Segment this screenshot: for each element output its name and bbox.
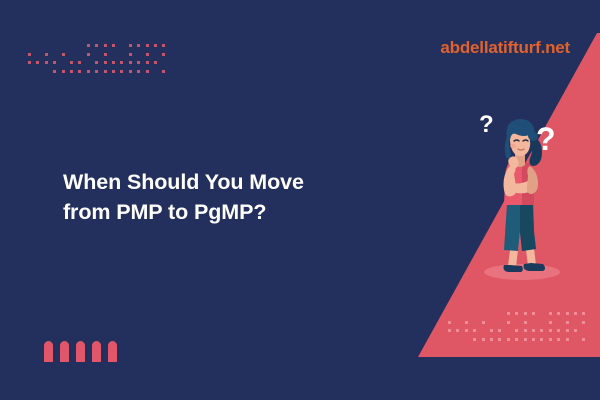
decorative-dot: [146, 70, 149, 73]
decorative-dot: [129, 44, 132, 47]
decorative-dot: [95, 44, 98, 47]
decorative-dot: [62, 53, 65, 56]
decorative-dot: [473, 329, 476, 332]
decorative-dot: [129, 61, 132, 64]
decorative-dot: [78, 61, 81, 64]
cheek: [510, 144, 516, 148]
decorative-dot: [549, 329, 552, 332]
decorative-dot: [549, 312, 552, 315]
decorative-dot: [137, 44, 140, 47]
decorative-dot: [87, 53, 90, 56]
page-title: When Should You Move from PMP to PgMP?: [63, 168, 363, 227]
decorative-dot: [112, 70, 115, 73]
decorative-dot: [104, 61, 107, 64]
decorative-dot: [515, 312, 518, 315]
decorative-dot: [566, 321, 569, 324]
decorative-dot: [507, 321, 510, 324]
decorative-dot: [465, 329, 468, 332]
decorative-dot: [490, 338, 493, 341]
decorative-dot: [515, 329, 518, 332]
decorative-dot: [154, 61, 157, 64]
decorative-dot: [540, 338, 543, 341]
decorative-dot: [448, 329, 451, 332]
decorative-dot: [566, 338, 569, 341]
decorative-dot: [524, 321, 527, 324]
decorative-dot-grid-top-left: [28, 44, 168, 78]
decorative-dot: [120, 61, 123, 64]
decorative-dot: [70, 70, 73, 73]
decorative-dot: [146, 53, 149, 56]
decorative-dot-grid-bottom-right: [448, 312, 588, 346]
decorative-dot: [574, 329, 577, 332]
decorative-arch-bar: [92, 341, 101, 362]
decorative-dot: [557, 312, 560, 315]
pants-shading: [520, 204, 536, 251]
decorative-dot: [482, 338, 485, 341]
decorative-dot: [53, 70, 56, 73]
decorative-arch-bar: [108, 341, 117, 362]
decorative-dot: [498, 338, 501, 341]
decorative-dot: [78, 70, 81, 73]
decorative-dot: [582, 338, 585, 341]
decorative-dot: [62, 70, 65, 73]
decorative-dot: [45, 61, 48, 64]
blog-banner: abdellatifturf.net When Should You Move …: [0, 0, 600, 400]
decorative-dot: [507, 312, 510, 315]
decorative-dot: [87, 70, 90, 73]
decorative-dot: [515, 338, 518, 341]
decorative-dot: [129, 70, 132, 73]
decorative-arch-bar: [44, 341, 53, 362]
decorative-dot: [162, 70, 165, 73]
decorative-dot: [137, 70, 140, 73]
decorative-dot: [53, 61, 56, 64]
decorative-dot: [557, 329, 560, 332]
decorative-dot: [532, 312, 535, 315]
decorative-dot: [104, 53, 107, 56]
decorative-dot: [456, 329, 459, 332]
decorative-dot: [574, 312, 577, 315]
decorative-dot: [162, 44, 165, 47]
decorative-dot: [507, 338, 510, 341]
decorative-dot: [146, 61, 149, 64]
decorative-dot: [532, 338, 535, 341]
decorative-arch-bar: [76, 341, 85, 362]
decorative-dot: [566, 329, 569, 332]
page-title-line-1: When Should You Move: [63, 168, 363, 198]
decorative-dot: [465, 321, 468, 324]
decorative-dot: [582, 321, 585, 324]
decorative-dot: [473, 338, 476, 341]
decorative-dot: [70, 61, 73, 64]
decorative-dot: [490, 329, 493, 332]
shoe-back: [504, 265, 523, 272]
page-title-line-2: from PMP to PgMP?: [63, 198, 363, 228]
decorative-dot: [582, 312, 585, 315]
thinking-woman-illustration: ? ?: [460, 108, 590, 288]
decorative-arch-bars: [44, 341, 117, 362]
decorative-dot: [28, 53, 31, 56]
decorative-dot: [28, 61, 31, 64]
decorative-arch-bar: [60, 341, 69, 362]
decorative-dot: [146, 44, 149, 47]
decorative-dot: [540, 329, 543, 332]
decorative-dot: [524, 338, 527, 341]
decorative-dot: [557, 338, 560, 341]
decorative-dot: [129, 53, 132, 56]
decorative-dot: [154, 44, 157, 47]
question-mark-small: ?: [479, 111, 494, 138]
decorative-dot: [137, 61, 140, 64]
decorative-dot: [549, 338, 552, 341]
decorative-dot: [120, 70, 123, 73]
question-mark-large: ?: [536, 121, 556, 157]
decorative-dot: [95, 61, 98, 64]
decorative-dot: [524, 312, 527, 315]
decorative-dot: [95, 70, 98, 73]
arm-right: [527, 166, 538, 194]
decorative-dot: [566, 312, 569, 315]
decorative-dot: [532, 329, 535, 332]
decorative-dot: [482, 321, 485, 324]
decorative-dot: [162, 53, 165, 56]
site-url-text: abdellatifturf.net: [300, 38, 570, 58]
decorative-dot: [45, 53, 48, 56]
decorative-dot: [87, 44, 90, 47]
shoe-front: [524, 263, 545, 271]
decorative-dot: [549, 321, 552, 324]
decorative-dot: [112, 61, 115, 64]
decorative-dot: [498, 329, 501, 332]
decorative-dot: [112, 44, 115, 47]
decorative-dot: [104, 70, 107, 73]
decorative-dot: [524, 329, 527, 332]
decorative-dot: [36, 61, 39, 64]
decorative-dot: [104, 44, 107, 47]
decorative-dot: [448, 321, 451, 324]
